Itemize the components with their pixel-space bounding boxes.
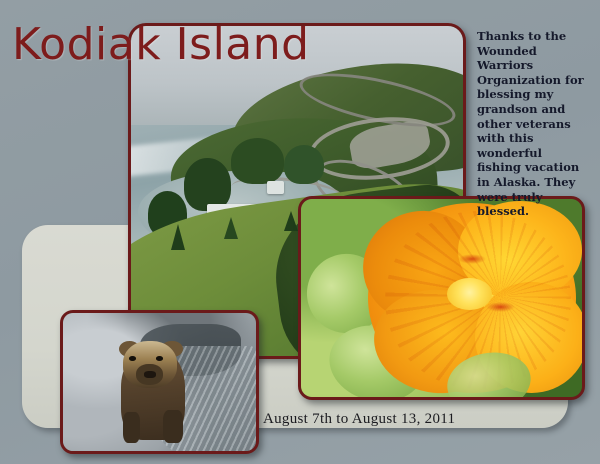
flower-red-marking-2 bbox=[486, 302, 514, 312]
scrapbook-page: Kodiak Island Thanks to the Wounded Warr… bbox=[0, 0, 600, 464]
island-tree-cluster-2 bbox=[231, 138, 284, 184]
bear-front-leg-left bbox=[123, 412, 140, 442]
photo-brown-bear[interactable] bbox=[60, 310, 259, 454]
bear-eye-right bbox=[156, 356, 164, 361]
bear-eye-left bbox=[129, 356, 137, 361]
bear-front-leg-right bbox=[163, 410, 182, 443]
island-small-building bbox=[267, 181, 284, 194]
photo-orange-nasturtium-flower[interactable] bbox=[298, 196, 585, 400]
trip-date-label: August 7th to August 13, 2011 bbox=[263, 411, 455, 428]
island-tree-cluster-1 bbox=[184, 158, 230, 211]
thank-you-caption: Thanks to the Wounded Warriors Organizat… bbox=[477, 29, 589, 219]
bear-photo-canvas bbox=[63, 313, 256, 451]
island-conifer-2 bbox=[224, 217, 238, 239]
island-conifer-3 bbox=[284, 211, 298, 231]
island-tree-cluster-3 bbox=[284, 145, 324, 185]
flower-photo-canvas bbox=[301, 199, 582, 397]
bear-nose bbox=[144, 371, 156, 378]
island-conifer-1 bbox=[171, 224, 185, 250]
flower-center-stamen bbox=[447, 278, 492, 310]
page-title: Kodiak Island bbox=[12, 19, 310, 70]
